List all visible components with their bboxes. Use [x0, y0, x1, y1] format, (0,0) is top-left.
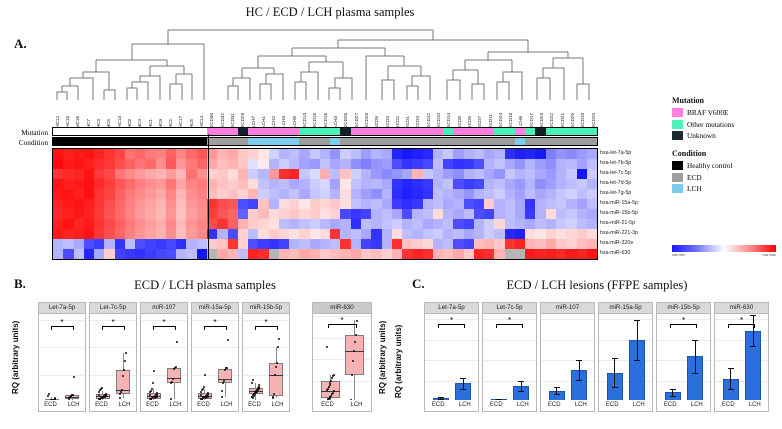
heatmap-cell: [494, 239, 504, 249]
heatmap-cell: [279, 249, 289, 259]
heatmap-cell: [156, 209, 166, 219]
heatmap-cell: [166, 169, 176, 179]
facet-x-labels: ECDLCH: [541, 400, 594, 411]
legend-condition-title: Condition: [672, 149, 782, 158]
heatmap-cell: [217, 179, 227, 189]
heatmap-cell: [392, 159, 402, 169]
heatmap-cell: [423, 249, 433, 259]
heatmap-cell: [74, 229, 84, 239]
x-tick-label: LCH: [113, 400, 136, 411]
gridline: [599, 319, 652, 320]
heatmap-cell: [340, 199, 350, 209]
heatmap-cell: [587, 149, 597, 159]
data-point: [73, 376, 75, 378]
data-point: [277, 346, 279, 348]
heatmap-row: [53, 179, 597, 189]
condition-cell: [371, 138, 381, 145]
heatmap-cell: [494, 209, 504, 219]
heatmap-cell: [412, 249, 422, 259]
heatmap-cell: [433, 169, 443, 179]
condition-cell: [207, 138, 217, 145]
heatmap-cell: [104, 209, 114, 219]
heatmap-cell: [74, 189, 84, 199]
heatmap-cell: [156, 199, 166, 209]
gridline: [425, 381, 478, 382]
heatmap-cell: [351, 239, 361, 249]
heatmap-cell: [74, 219, 84, 229]
heatmap-cell: [228, 219, 238, 229]
heatmap-cell: [258, 169, 268, 179]
heatmap-cell: [269, 239, 279, 249]
heatmap-cell: [535, 169, 545, 179]
heatmap-cell: [546, 249, 556, 259]
facet-x-labels: ECDLCH: [192, 400, 238, 411]
heatmap-cell: [176, 149, 186, 159]
heatmap-cell: [382, 249, 392, 259]
data-point: [278, 338, 280, 340]
heatmap-row-label: hsa-miR-320e: [600, 241, 633, 246]
heatmap-cell: [371, 159, 381, 169]
mutation-cell: [566, 128, 576, 135]
mutation-cell: [207, 128, 217, 135]
heatmap-cell: [556, 229, 566, 239]
heatmap-cell: [166, 209, 176, 219]
heatmap-cell: [228, 179, 238, 189]
heatmap-cell: [525, 179, 535, 189]
facet-x-labels: ECDLCH: [39, 400, 85, 411]
data-point: [151, 388, 153, 390]
mutation-cell: [74, 128, 84, 135]
heatmap-cell: [412, 169, 422, 179]
legend-mutation-items: BRAF V600EOther mutationsUnknown: [672, 108, 782, 140]
heatmap-cell: [566, 189, 576, 199]
gridline: [90, 347, 136, 348]
heatmap-cell: [402, 239, 412, 249]
heatmap-cell: [351, 189, 361, 199]
heatmap-cell: [176, 229, 186, 239]
heatmap-cell: [494, 249, 504, 259]
heatmap-cell: [433, 249, 443, 259]
heatmap-row-label: hsa-let-7d-5p: [600, 181, 631, 186]
condition-track: [52, 137, 598, 146]
heatmap-cell: [145, 229, 155, 239]
heatmap-cell: [340, 189, 350, 199]
heatmap-cell: [186, 169, 196, 179]
error-bar-cap: [634, 360, 640, 361]
mutation-cell: [104, 128, 114, 135]
panel-c-title: ECD / LCH lesions (FFPE samples): [432, 278, 762, 293]
legend-item-condition: Healthy control: [672, 161, 782, 170]
heatmap-cell: [94, 179, 104, 189]
facet-mir-630: miR-630*ECDLCH: [714, 302, 769, 412]
facet-title: miR-15a-5p: [192, 303, 238, 314]
heatmap-cell: [464, 239, 474, 249]
heatmap-cell: [474, 199, 484, 209]
condition-cell: [289, 138, 299, 145]
heatmap-cell: [269, 229, 279, 239]
error-bar: [463, 378, 464, 389]
heatmap-cell: [53, 229, 63, 239]
x-tick-label: ECD: [141, 400, 164, 411]
facet-title: miR-107: [141, 303, 187, 314]
heatmap-cell: [515, 149, 525, 159]
heatmap-cell: [546, 199, 556, 209]
heatmap-cell: [248, 159, 258, 169]
mutation-cell: [464, 128, 474, 135]
heatmap-cell: [351, 209, 361, 219]
heatmap-cell: [289, 249, 299, 259]
condition-cell: [248, 138, 258, 145]
median-line: [321, 391, 340, 392]
heatmap-cell: [330, 229, 340, 239]
heatmap-cell: [330, 209, 340, 219]
heatmap-cell: [115, 209, 125, 219]
heatmap-cell: [217, 159, 227, 169]
heatmap-cell: [505, 209, 515, 219]
heatmap-cell: [505, 239, 515, 249]
heatmap-cell: [63, 179, 73, 189]
error-bar-cap: [518, 381, 524, 382]
heatmap-cell: [382, 239, 392, 249]
facet-mir-15b-5p: miR-15b-5p*ECDLCH: [656, 302, 711, 412]
heatmap-cell: [515, 189, 525, 199]
mutation-cell: [515, 128, 525, 135]
heatmap-cell: [63, 199, 73, 209]
heatmap-cell: [135, 249, 145, 259]
heatmap-cell: [546, 169, 556, 179]
heatmap-cell: [186, 249, 196, 259]
condition-cell: [166, 138, 176, 145]
heatmap-cell: [433, 229, 443, 239]
heatmap-cell: [525, 229, 535, 239]
heatmap-cell: [443, 179, 453, 189]
data-point: [327, 388, 329, 390]
facet-plot: *: [715, 314, 768, 400]
heatmap-cell: [53, 219, 63, 229]
heatmap-cell: [474, 159, 484, 169]
error-bar-cap: [554, 394, 560, 395]
heatmap-cell: [74, 239, 84, 249]
facet-x-labels: ECDLCH: [141, 400, 187, 411]
heatmap-cell: [474, 219, 484, 229]
heatmap-cell: [484, 239, 494, 249]
heatmap-cell: [361, 169, 371, 179]
heatmap-cell: [166, 219, 176, 229]
condition-cell: [320, 138, 330, 145]
condition-cell: [228, 138, 238, 145]
condition-cell: [310, 138, 320, 145]
condition-cell: [145, 138, 155, 145]
heatmap-cell: [310, 199, 320, 209]
error-bar-cap: [692, 340, 698, 341]
error-bar-cap: [612, 387, 618, 388]
condition-cell: [238, 138, 248, 145]
heatmap-cell: [577, 159, 587, 169]
error-bar-cap: [460, 389, 466, 390]
data-point: [252, 379, 254, 381]
median-line: [218, 379, 232, 380]
heatmap-cell: [135, 179, 145, 189]
heatmap-cell: [279, 229, 289, 239]
mutation-cell: [115, 128, 125, 135]
heatmap-cell: [566, 229, 576, 239]
mutation-cell: [238, 128, 248, 135]
heatmap-row-label: hsa-miR-630: [600, 251, 630, 256]
heatmap-cell: [269, 249, 279, 259]
heatmap-cell: [228, 239, 238, 249]
heatmap-cell: [320, 149, 330, 159]
gridline: [425, 360, 478, 361]
heatmap-cell: [392, 189, 402, 199]
heatmap-cell: [535, 149, 545, 159]
heatmap-cell: [330, 239, 340, 249]
heatmap-cell: [412, 199, 422, 209]
heatmap-cell: [340, 229, 350, 239]
heatmap-cell: [166, 199, 176, 209]
heatmap-cell: [494, 189, 504, 199]
heatmap-cell: [289, 159, 299, 169]
heatmap-cell: [371, 239, 381, 249]
heatmap-cell: [156, 149, 166, 159]
heatmap-row-label: hsa-let-7a-5p: [600, 151, 631, 156]
error-bar: [579, 360, 580, 380]
heatmap-cell: [392, 239, 402, 249]
data-point: [48, 393, 50, 395]
gradient-max-label: row max: [762, 253, 776, 257]
mutation-cell: [135, 128, 145, 135]
heatmap-cell: [433, 199, 443, 209]
facet-title: miR-630: [715, 303, 768, 314]
heatmap-cell: [484, 199, 494, 209]
heatmap-cell: [484, 169, 494, 179]
heatmap-cell: [63, 149, 73, 159]
mutation-cell: [371, 128, 381, 135]
heatmap-cell: [53, 249, 63, 259]
heatmap-cell: [238, 199, 248, 209]
heatmap-cell: [392, 219, 402, 229]
heatmap-cell: [433, 159, 443, 169]
heatmap-cell: [371, 249, 381, 259]
heatmap-cell: [505, 179, 515, 189]
heatmap-row: [53, 159, 597, 169]
condition-cell: [115, 138, 125, 145]
data-point: [251, 382, 253, 384]
heatmap-cell: [115, 239, 125, 249]
heatmap-row-label: hsa-let-7b-5p: [600, 161, 631, 166]
mutation-cell: [125, 128, 135, 135]
error-bar: [614, 358, 615, 387]
heatmap-cell: [494, 149, 504, 159]
facet-mir-15b-5p: miR-15b-5p*ECDLCH: [242, 302, 290, 412]
condition-cell: [135, 138, 145, 145]
condition-cell: [94, 138, 104, 145]
heatmap-row: [53, 219, 597, 229]
heatmap-cell: [258, 249, 268, 259]
data-point: [47, 395, 49, 397]
heatmap-cell: [556, 149, 566, 159]
heatmap-cell: [258, 209, 268, 219]
heatmap-cell: [197, 229, 207, 239]
heatmap-cell: [474, 239, 484, 249]
heatmap-cell: [279, 169, 289, 179]
heatmap-cell: [197, 249, 207, 259]
facet-title: Let-7c-5p: [90, 303, 136, 314]
heatmap-cell: [474, 169, 484, 179]
facet-let-7a-5p: Let-7a-5p0.02.55.07.510.0*ECDLCH: [424, 302, 479, 412]
heatmap-cell: [74, 169, 84, 179]
heatmap-cell: [186, 149, 196, 159]
error-bar: [521, 381, 522, 391]
heatmap-cell: [299, 189, 309, 199]
heatmap-cell: [125, 199, 135, 209]
heatmap-cell: [258, 179, 268, 189]
heatmap-cell: [320, 229, 330, 239]
heatmap-cell: [176, 169, 186, 179]
facet-plot: [541, 314, 594, 400]
heatmap-cell: [186, 199, 196, 209]
condition-cell: [402, 138, 412, 145]
heatmap-cell: [392, 249, 402, 259]
heatmap-cell: [310, 149, 320, 159]
heatmap-cell: [310, 239, 320, 249]
legend-mutation-title: Mutation: [672, 96, 782, 105]
heatmap-cell: [145, 249, 155, 259]
legend-swatch: [672, 120, 683, 129]
heatmap-cell: [423, 179, 433, 189]
heatmap-cell: [125, 209, 135, 219]
heatmap-cell: [474, 249, 484, 259]
heatmap-cell: [115, 189, 125, 199]
heatmap-cell: [494, 219, 504, 229]
mutation-cell: [228, 128, 238, 135]
significance-star: *: [162, 319, 165, 327]
significance-star: *: [60, 319, 63, 327]
heatmap-cell: [587, 179, 597, 189]
heatmap-row-label: hsa-miR-15b-5p: [600, 211, 638, 216]
heatmap-cell: [217, 219, 227, 229]
heatmap-cell: [115, 199, 125, 209]
mutation-cell: [412, 128, 422, 135]
heatmap-cell: [269, 219, 279, 229]
heatmap-cell: [248, 239, 258, 249]
heatmap-cell: [94, 199, 104, 209]
x-tick-label: LCH: [164, 400, 187, 411]
heatmap-cell: [546, 209, 556, 219]
heatmap-cell: [289, 229, 299, 239]
heatmap-cell: [577, 249, 587, 259]
heatmap-cell: [515, 219, 525, 229]
heatmap-cell: [125, 169, 135, 179]
mutation-cell: [484, 128, 494, 135]
heatmap-cell: [104, 229, 114, 239]
heatmap-cell: [464, 229, 474, 239]
facet-let-7c-5p: Let-7c-5p*ECDLCH: [482, 302, 537, 412]
mutation-cell: [289, 128, 299, 135]
heatmap-cell: [433, 189, 443, 199]
mutation-cell: [258, 128, 268, 135]
data-point: [203, 386, 205, 388]
heatmap-cell: [587, 219, 597, 229]
heatmap-cell: [63, 159, 73, 169]
heatmap-cell: [197, 209, 207, 219]
facet-title: miR-15b-5p: [243, 303, 289, 314]
heatmap-cell: [217, 209, 227, 219]
gridline: [483, 360, 536, 361]
heatmap-cell: [535, 239, 545, 249]
heatmap-cell: [197, 149, 207, 159]
heatmap-color-scale: row min row max: [672, 245, 776, 257]
facet-let-7a-5p: Let-7a-5p0246*ECDLCH: [38, 302, 86, 412]
legend-label: BRAF V600E: [687, 108, 728, 117]
heatmap-cell: [453, 229, 463, 239]
heatmap-cell: [228, 249, 238, 259]
mutation-cell: [320, 128, 330, 135]
heatmap-cell: [104, 169, 114, 179]
heatmap-cell: [176, 249, 186, 259]
heatmap-cell: [156, 179, 166, 189]
heatmap-cell: [515, 199, 525, 209]
heatmap-cell: [320, 179, 330, 189]
heatmap-cell: [94, 169, 104, 179]
heatmap-cell: [145, 179, 155, 189]
condition-cell: [392, 138, 402, 145]
heatmap-cell: [443, 209, 453, 219]
data-point: [351, 374, 353, 376]
heatmap-cell: [269, 199, 279, 209]
heatmap-cell: [351, 179, 361, 189]
heatmap-cell: [53, 209, 63, 219]
facet-plot: [599, 314, 652, 400]
condition-cell: [361, 138, 371, 145]
heatmap-cell: [474, 149, 484, 159]
heatmap-cell: [361, 179, 371, 189]
heatmap-cell: [217, 239, 227, 249]
heatmap-cell: [269, 209, 279, 219]
heatmap-cell: [525, 149, 535, 159]
heatmap-cell: [166, 229, 176, 239]
heatmap-cell: [515, 249, 525, 259]
data-point: [227, 339, 229, 341]
panel-b-title: ECD / LCH plasma samples: [40, 278, 370, 293]
heatmap-cell: [176, 239, 186, 249]
heatmap-cell: [566, 199, 576, 209]
heatmap-cell: [392, 179, 402, 189]
facet-plot: *: [141, 314, 187, 400]
heatmap-cell: [248, 149, 258, 159]
condition-cell: [279, 138, 289, 145]
heatmap-cell: [433, 209, 443, 219]
heatmap-cell: [412, 149, 422, 159]
heatmap-cell: [453, 239, 463, 249]
heatmap-cell: [238, 249, 248, 259]
heatmap-cell: [392, 199, 402, 209]
heatmap-cell: [515, 159, 525, 169]
heatmap-cell: [494, 179, 504, 189]
panel-c: C. ECD / LCH lesions (FFPE samples) RQ (…: [392, 272, 782, 429]
data-point: [119, 397, 121, 399]
heatmap-cell: [135, 239, 145, 249]
heatmap-cell: [361, 219, 371, 229]
heatmap-cell: [289, 189, 299, 199]
heatmap-cell: [176, 159, 186, 169]
heatmap-cell: [53, 199, 63, 209]
heatmap-cell: [464, 149, 474, 159]
heatmap-cell: [228, 159, 238, 169]
heatmap-cell: [53, 149, 63, 159]
heatmap-cell: [74, 159, 84, 169]
x-tick-label: LCH: [510, 400, 537, 411]
facet-plot: *: [243, 314, 289, 400]
